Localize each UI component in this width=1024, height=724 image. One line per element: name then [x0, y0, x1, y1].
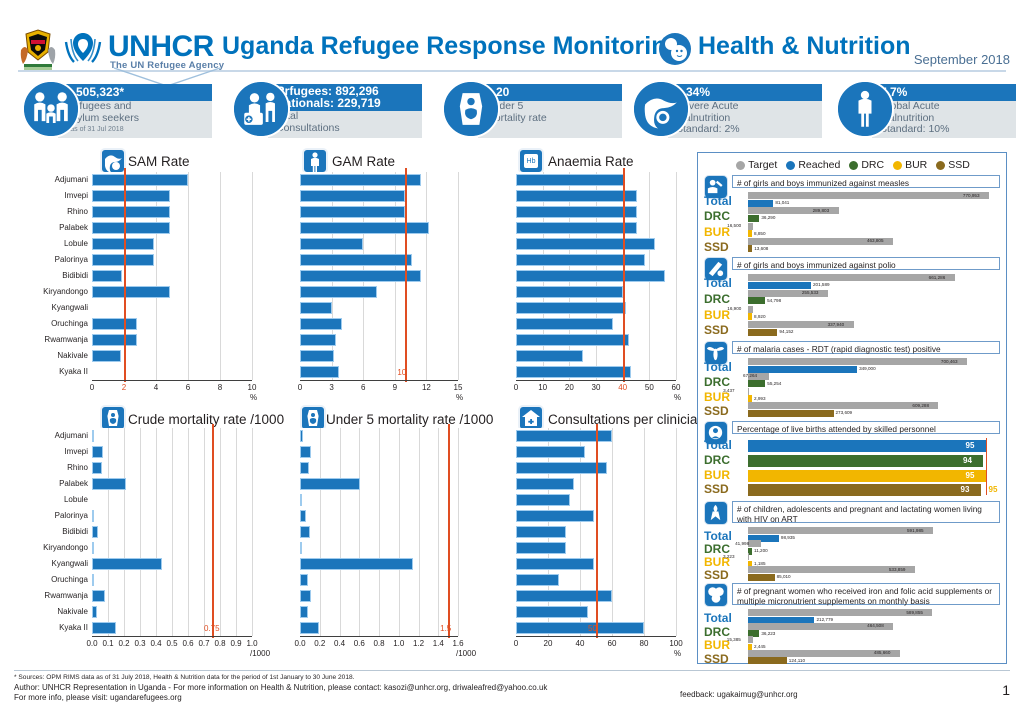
target-value: 464,508	[867, 623, 884, 628]
bar-nakivale	[516, 606, 588, 618]
y-tick-label: Imvepi	[6, 191, 88, 200]
plot-area	[92, 428, 252, 636]
target-value: 337,940	[828, 322, 845, 327]
reached-bar	[748, 282, 811, 289]
y-tick-label: Palabek	[6, 479, 88, 488]
bar-bidibidi	[516, 526, 566, 538]
reached-bar	[748, 297, 765, 304]
reference-line	[405, 168, 407, 382]
legend-swatch-icon	[849, 161, 858, 170]
gridline	[426, 172, 427, 380]
reached-bar	[748, 215, 759, 222]
target-value: 16,900	[727, 306, 741, 311]
x-tick-label: 40	[568, 639, 592, 648]
bar-palorinya	[516, 254, 645, 266]
bar-kiryandongo	[516, 542, 566, 554]
bar-nakivale	[300, 606, 308, 618]
footer-author: Author: UNHCR Representation in Uganda -…	[14, 683, 714, 692]
x-tick-label: 3	[320, 383, 344, 392]
bar-kyangwali	[516, 302, 626, 314]
axis-unit-label: %	[674, 649, 681, 658]
y-tick-label: Palorinya	[6, 255, 88, 264]
row-label-ssd: SSD	[704, 323, 729, 337]
target-value: 533,859	[889, 567, 906, 572]
x-tick-label: 80	[632, 639, 656, 648]
x-tick-label: 50	[637, 383, 661, 392]
plot-area	[300, 428, 458, 636]
reached-value: 212,779	[816, 617, 833, 622]
bar-kyangwali	[300, 302, 332, 314]
reached-value: 2,445	[754, 644, 766, 649]
reached-value: 11,200	[754, 548, 768, 553]
indicator-block-3: Percentage of live births attended by sk…	[702, 421, 1004, 499]
row-label-total: Total	[704, 360, 732, 374]
bar-palabek	[300, 222, 429, 234]
target-value: 15,385	[727, 637, 741, 642]
bar-nakivale	[516, 350, 583, 362]
gridline	[676, 428, 677, 636]
x-tick-label: 30	[584, 383, 608, 392]
gridline	[140, 428, 141, 636]
legend-label: SSD	[948, 159, 970, 171]
indicator-title: # of malaria cases - RDT (rapid diagnost…	[732, 341, 1000, 354]
bar-oruchinga	[516, 318, 613, 330]
target-value: 67,264	[743, 373, 757, 378]
reached-bar	[748, 455, 983, 467]
bar-rhino	[92, 462, 102, 474]
reached-bar	[748, 200, 773, 207]
row-label-bur: BUR	[704, 468, 730, 482]
target-bar	[748, 609, 932, 616]
target-bar	[748, 223, 753, 230]
x-axis	[300, 380, 458, 381]
reached-bar	[748, 329, 777, 336]
row-label-drc: DRC	[704, 292, 730, 306]
gridline	[172, 428, 173, 636]
reached-bar	[748, 410, 834, 417]
gridline	[340, 428, 341, 636]
reached-value: 36,290	[761, 215, 775, 220]
report-date: September 2018	[914, 52, 1010, 67]
bar-kiryandongo	[92, 286, 170, 298]
chart-title: Under 5 mortality rate /1000	[326, 412, 493, 427]
row-label-ssd: SSD	[704, 652, 729, 666]
x-tick-label: 40	[611, 383, 635, 392]
row-label-drc: DRC	[704, 453, 730, 467]
footer-sources: * Sources: OPM RIMS data as of 31 July 2…	[14, 674, 714, 681]
target-value: 463,805	[867, 238, 884, 243]
legend-swatch-icon	[786, 161, 795, 170]
gridline	[220, 428, 221, 636]
plot-area	[516, 428, 676, 636]
x-tick-label: 10	[240, 383, 264, 392]
bar-palorinya	[92, 510, 94, 522]
gridline	[644, 428, 645, 636]
bar-imvepi	[92, 190, 170, 202]
gridline	[252, 172, 253, 380]
y-tick-label: Nakivale	[6, 351, 88, 360]
x-tick-label: 12	[414, 383, 438, 392]
row-label-ssd: SSD	[704, 404, 729, 418]
reached-value: 54,798	[767, 298, 781, 303]
y-tick-label: Bidibidi	[6, 527, 88, 536]
reached-value: 349,000	[859, 366, 876, 371]
gridline	[458, 428, 459, 636]
target-bar	[748, 540, 761, 547]
target-bar	[748, 636, 753, 643]
indicators-panel: Target Reached DRC BUR SSD # of girls an…	[697, 152, 1007, 664]
y-tick-label: Adjumani	[6, 431, 88, 440]
bar-kiryandongo	[300, 286, 377, 298]
bar-bidibidi	[300, 526, 310, 538]
row-label-ssd: SSD	[704, 240, 729, 254]
kpi-value-nationals: Nationals: 229,719	[276, 96, 381, 110]
axis-unit-label: /1000	[250, 649, 270, 658]
reached-value: 124,110	[789, 658, 805, 663]
bar-rhino	[516, 462, 607, 474]
legend-item-bur: BUR	[893, 159, 927, 171]
x-tick-label: 0	[504, 383, 528, 392]
target-bar	[748, 388, 749, 395]
target-value: 255,533	[802, 290, 819, 295]
bar-kyaka-ii	[516, 622, 644, 634]
y-tick-label: Rwamwanja	[6, 335, 88, 344]
gridline	[458, 172, 459, 380]
indicator-block-4: # of children, adolescents and pregnant …	[702, 501, 1004, 581]
y-tick-label: Palabek	[6, 223, 88, 232]
footer-divider	[14, 670, 1010, 671]
bar-bidibidi	[92, 270, 122, 282]
y-tick-label: Rwamwanja	[6, 591, 88, 600]
bar-kyangwali	[300, 558, 413, 570]
reached-bar	[748, 230, 752, 237]
kpi-note: ( as of 31 Jul 2018	[66, 124, 139, 136]
reached-bar	[748, 657, 787, 664]
indicator-title: # of girls and boys immunized against po…	[732, 257, 1000, 270]
x-tick-label: 0	[504, 639, 528, 648]
gridline	[612, 428, 613, 636]
mother-and-child-icon	[658, 32, 692, 66]
bar-nakivale	[300, 350, 334, 362]
uganda-coat-of-arms-icon	[18, 28, 58, 72]
bar-lobule	[516, 494, 570, 506]
y-tick-label: Kiryandongo	[6, 287, 88, 296]
row-label-ssd: SSD	[704, 568, 729, 582]
bar-rhino	[300, 206, 405, 218]
y-tick-label: Rhino	[6, 463, 88, 472]
y-tick-label: Kyaka II	[6, 367, 88, 376]
bar-oruchinga	[92, 574, 94, 586]
x-tick-label: 10	[531, 383, 555, 392]
target-value: 289,803	[813, 208, 830, 213]
panel-legend: Target Reached DRC BUR SSD	[698, 157, 1008, 173]
legend-label: Target	[748, 159, 777, 171]
bar-kyaka-ii	[516, 366, 631, 378]
reached-bar	[748, 484, 981, 496]
reached-value: 8,920	[754, 314, 766, 319]
x-axis	[516, 380, 676, 381]
y-tick-label: Nakivale	[6, 607, 88, 616]
reached-bar	[748, 395, 752, 402]
bar-kyangwali	[516, 558, 594, 570]
bar-kyaka-ii	[92, 622, 116, 634]
hiv-ribbon-icon	[704, 501, 728, 525]
gridline	[438, 428, 439, 636]
legend-item-reached: Reached	[786, 159, 840, 171]
bar-oruchinga	[300, 574, 308, 586]
gridline	[399, 428, 400, 636]
reached-value: 36,223	[761, 631, 775, 636]
bar-rhino	[516, 206, 637, 218]
unhcr-emblem-icon	[62, 28, 104, 68]
target-value: 609,288	[912, 403, 929, 408]
x-axis	[300, 636, 458, 637]
kpi-standard: Standard: 10%	[880, 124, 949, 136]
bar-rhino	[92, 206, 170, 218]
bar-bidibidi	[516, 270, 665, 282]
target-value: 3,223	[723, 554, 735, 559]
bar-oruchinga	[516, 574, 559, 586]
plot-area	[516, 172, 676, 380]
reached-bar	[748, 245, 752, 252]
row-label-bur: BUR	[704, 308, 730, 322]
footer-more-info: For more info, please visit: ugandarefug…	[14, 693, 714, 702]
supplement-tablets-icon	[704, 583, 728, 607]
reference-value-label: 0.75	[204, 624, 220, 633]
bar-rwamwanja	[516, 334, 629, 346]
reached-bar	[748, 440, 986, 452]
gridline	[220, 172, 221, 380]
target-bar	[748, 402, 938, 409]
target-bar	[748, 553, 749, 560]
reached-bar	[748, 366, 857, 373]
bar-palabek	[92, 222, 170, 234]
chart-title: Crude mortality rate /1000	[128, 412, 284, 427]
target-reference-label: 95	[989, 485, 998, 494]
target-value: 770,953	[963, 193, 980, 198]
unhcr-wordmark: UNHCR	[108, 30, 214, 64]
family-icon	[22, 80, 80, 138]
gridline	[156, 428, 157, 636]
row-label-total: Total	[704, 611, 732, 625]
kpi-global-acute-malnutrition: 7.7% Global Acute Malnutrition Standard:…	[836, 80, 1016, 142]
reached-value: 98,935	[781, 535, 795, 540]
x-tick-label: 15	[446, 383, 470, 392]
target-value: 41,998	[735, 541, 749, 546]
reference-line	[124, 168, 126, 382]
blood-test-icon: Hb	[518, 148, 544, 174]
reached-bar	[748, 313, 752, 320]
x-tick-label: 2	[112, 383, 136, 392]
y-tick-label: Kyangwali	[6, 559, 88, 568]
section-title-health-nutrition: Health & Nutrition	[698, 32, 911, 61]
target-value: 16,500	[727, 223, 741, 228]
bar-lobule	[516, 238, 655, 250]
bar-palabek	[516, 222, 637, 234]
body-measure-icon	[302, 148, 328, 174]
bar-lobule	[300, 494, 302, 506]
indicator-block-5: # of pregnant women who received iron an…	[702, 583, 1004, 665]
x-tick-label: 60	[600, 639, 624, 648]
gridline	[676, 172, 677, 380]
legend-item-ssd: SSD	[936, 159, 970, 171]
bar-palorinya	[516, 510, 594, 522]
bar-lobule	[300, 238, 363, 250]
reference-line	[623, 168, 625, 382]
reference-value-label: 1.5	[440, 624, 451, 633]
page-header: UNHCR The UN Refugee Agency Uganda Refug…	[0, 0, 1024, 72]
reached-value: 94,152	[779, 329, 793, 334]
bar-bidibidi	[300, 270, 421, 282]
bar-imvepi	[300, 446, 311, 458]
target-bar	[748, 358, 967, 365]
reached-value: 81,041	[775, 200, 789, 205]
bar-kiryandongo	[300, 542, 302, 554]
chart-title: Anaemia Rate	[548, 154, 634, 169]
reached-value: 8,850	[754, 231, 766, 236]
footer: * Sources: OPM RIMS data as of 31 July 2…	[14, 674, 714, 702]
indicator-title: # of pregnant women who received iron an…	[732, 583, 1000, 605]
plot-area	[92, 172, 252, 380]
bar-adjumani	[92, 430, 94, 442]
bar-rwamwanja	[300, 334, 336, 346]
target-reference-line	[986, 438, 988, 495]
gridline	[580, 428, 581, 636]
legend-swatch-icon	[893, 161, 902, 170]
target-value: 700,463	[941, 359, 958, 364]
reached-value: 273,609	[836, 410, 853, 415]
reference-value-label: 10	[397, 368, 406, 377]
indicator-block-0: # of girls and boys immunized against me…	[702, 175, 1004, 255]
indicator-title: # of children, adolescents and pregnant …	[732, 501, 1000, 523]
y-tick-label: Kiryandongo	[6, 543, 88, 552]
reached-value: 13,608	[754, 246, 768, 251]
gridline	[236, 428, 237, 636]
y-tick-label: Rhino	[6, 207, 88, 216]
kpi-severe-acute-malnutrition: 0.34% Severe Acute Malnutrition Standard…	[632, 80, 822, 142]
target-value: 3,437	[723, 388, 735, 393]
gridline	[156, 172, 157, 380]
x-tick-label: 0	[288, 383, 312, 392]
reached-bar	[748, 574, 775, 581]
row-label-drc: DRC	[704, 209, 730, 223]
bar-kyaka-ii	[300, 366, 339, 378]
bar-palorinya	[300, 510, 306, 522]
axis-unit-label: %	[250, 393, 257, 402]
body-measure-icon	[836, 80, 894, 138]
target-bar	[748, 527, 933, 534]
gridline	[359, 428, 360, 636]
malnourished-child-icon	[100, 148, 126, 174]
indicator-title: Percentage of live births attended by sk…	[732, 421, 1000, 434]
infant-coffin-icon	[442, 80, 500, 138]
reached-value: 55,254	[767, 381, 781, 386]
row-label-bur: BUR	[704, 225, 730, 239]
bar-imvepi	[300, 190, 405, 202]
reached-bar	[748, 470, 986, 482]
row-label-drc: DRC	[704, 375, 730, 389]
gridline	[379, 428, 380, 636]
bar-rhino	[300, 462, 309, 474]
target-bar	[748, 274, 955, 281]
x-tick-label: 6	[351, 383, 375, 392]
x-tick-label: 4	[144, 383, 168, 392]
bar-adjumani	[300, 430, 303, 442]
bar-kiryandongo	[92, 542, 94, 554]
indicator-title: # of girls and boys immunized against me…	[732, 175, 1000, 188]
bar-adjumani	[300, 174, 421, 186]
reached-value: 93	[961, 485, 970, 494]
row-label-total: Total	[704, 276, 732, 290]
bar-palabek	[300, 478, 360, 490]
bar-palorinya	[300, 254, 412, 266]
indicator-block-2: # of malaria cases - RDT (rapid diagnost…	[702, 341, 1004, 419]
footer-feedback: feedback: ugakaimug@unhcr.org	[680, 690, 798, 699]
y-tick-label: Kyangwali	[6, 303, 88, 312]
target-value: 589,855	[906, 610, 923, 615]
kpi-total-consultations: Rrfugees: 892,296 Nationals: 229,719 Tot…	[232, 80, 422, 142]
bar-adjumani	[92, 174, 188, 186]
reached-value: 94	[963, 456, 972, 465]
x-tick-label: 6	[176, 383, 200, 392]
bar-palabek	[516, 478, 574, 490]
y-tick-label: Oruchinga	[6, 575, 88, 584]
legend-label: Reached	[798, 159, 840, 171]
x-axis	[92, 380, 252, 381]
chart-title: GAM Rate	[332, 154, 395, 169]
svg-text:Hb: Hb	[527, 158, 536, 165]
legend-label: BUR	[905, 159, 927, 171]
gridline	[124, 428, 125, 636]
gridline	[108, 428, 109, 636]
legend-swatch-icon	[736, 161, 745, 170]
x-tick-label: 100	[664, 639, 688, 648]
bar-imvepi	[92, 446, 103, 458]
x-axis	[516, 636, 676, 637]
target-value: 591,985	[907, 528, 924, 533]
y-tick-label: Palorinya	[6, 511, 88, 520]
reference-line	[212, 424, 214, 638]
reference-line	[448, 424, 450, 638]
bar-kyaka-ii	[300, 622, 319, 634]
bar-imvepi	[516, 190, 637, 202]
bar-oruchinga	[300, 318, 342, 330]
axis-unit-label: %	[456, 393, 463, 402]
bar-rwamwanja	[92, 590, 105, 602]
bar-palabek	[92, 478, 126, 490]
y-tick-label: Kyaka II	[6, 623, 88, 632]
y-tick-label: Adjumani	[6, 175, 88, 184]
x-tick-label: 1.6	[446, 639, 470, 648]
gridline	[252, 428, 253, 636]
kpi-under5-mortality: 0.20 Under 5 mortality rate	[442, 80, 622, 142]
malnourished-child-icon	[632, 80, 690, 138]
x-tick-label: 1.0	[240, 639, 264, 648]
page-title: Uganda Refugee Response Monitoring	[222, 32, 682, 61]
y-tick-label: Bidibidi	[6, 271, 88, 280]
axis-unit-label: %	[674, 393, 681, 402]
bar-adjumani	[516, 174, 625, 186]
reference-value-label: 50	[588, 624, 597, 633]
gridline	[204, 428, 205, 636]
target-bar	[748, 306, 753, 313]
gridline	[188, 428, 189, 636]
y-tick-label: Lobule	[6, 239, 88, 248]
reached-value: 201,589	[813, 282, 830, 287]
x-tick-label: 0	[80, 383, 104, 392]
legend-label: DRC	[861, 159, 884, 171]
reached-value: 95	[966, 471, 975, 480]
